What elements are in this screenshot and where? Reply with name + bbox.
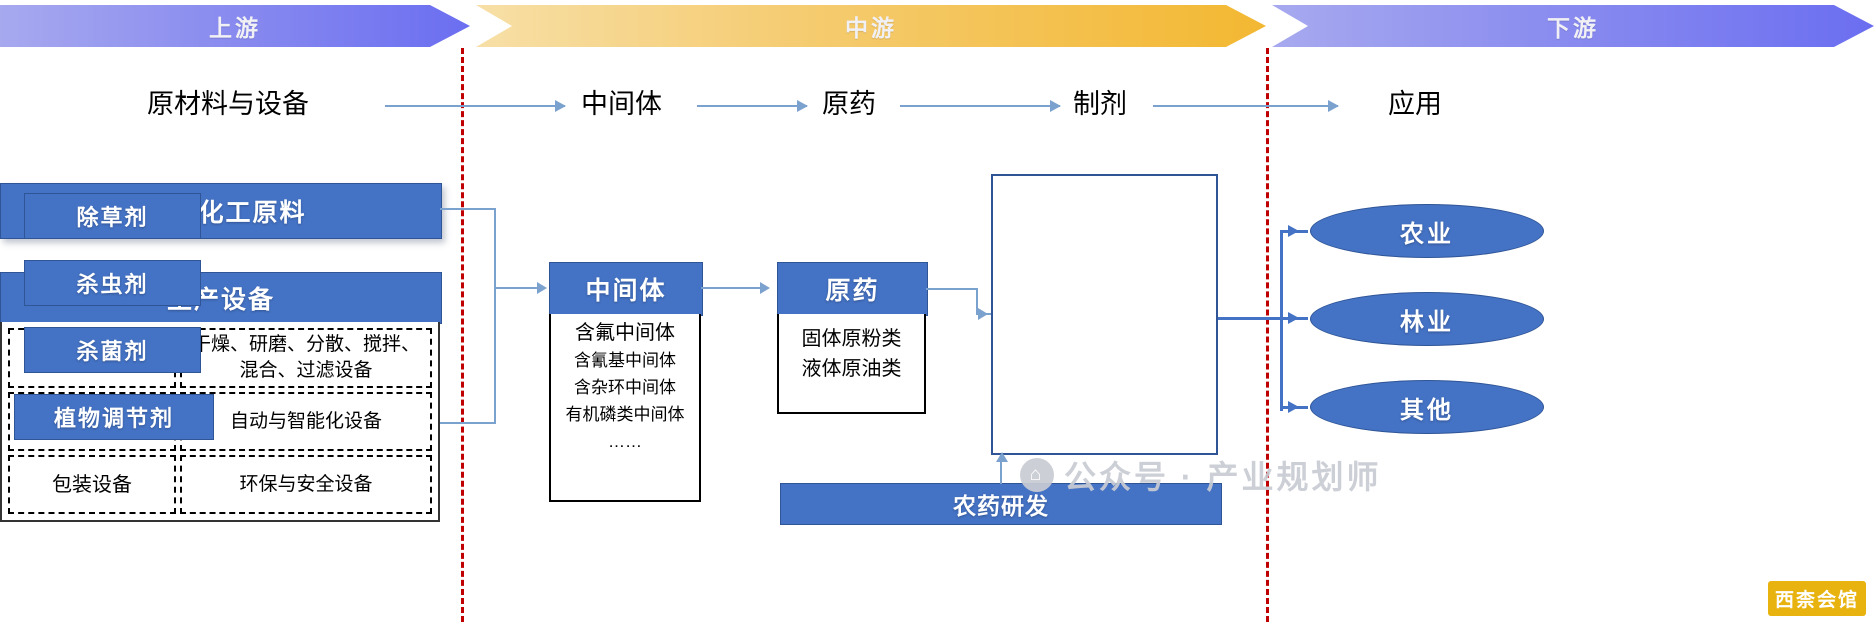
arrow-to-active-ingredient: [760, 282, 770, 294]
stage-label-active-ingredient: 原药: [822, 86, 876, 122]
formulation-chip-fungicide-label: 杀菌剂: [76, 334, 148, 366]
arrow-to-forestry: [1288, 312, 1299, 324]
connector-downstream-bus: [1280, 231, 1283, 411]
connector-rnd-to-formulation: [1000, 462, 1002, 484]
watermark-public-account-text: 公众号 · 产业规划师: [1064, 452, 1381, 498]
arrow-to-intermediate: [537, 282, 547, 294]
equipment-cell-drying-grinding[interactable]: 干燥、研磨、分散、搅拌、混合、过滤设备: [180, 328, 432, 388]
formulation-chip-fungicide[interactable]: 杀菌剂: [24, 327, 201, 373]
active-ingredient-item-list: 固体原粉类 液体原油类: [777, 314, 926, 414]
connector-ai-step-h1: [926, 288, 978, 290]
arrow-to-agriculture: [1288, 225, 1299, 237]
connector-bracket-vertical: [494, 208, 496, 424]
banner-upstream-label: 上游: [209, 9, 261, 43]
intermediate-item-cyano[interactable]: 含氰基中间体: [555, 347, 695, 374]
arrow-to-formulation: [978, 308, 988, 320]
separator-midstream-downstream: [1266, 48, 1269, 622]
stage-arrow-1: [385, 105, 565, 107]
stage-arrow-2: [697, 105, 807, 107]
arrow-to-others: [1288, 401, 1299, 413]
formulation-chip-plant-growth-regulator[interactable]: 植物调节剂: [14, 394, 214, 440]
intermediate-item-heterocycle[interactable]: 含杂环中间体: [555, 374, 695, 401]
watermark-public-account: ⌂ 公众号 · 产业规划师: [1020, 452, 1381, 498]
application-agriculture[interactable]: 农业: [1310, 204, 1544, 258]
application-agriculture-label: 农业: [1400, 214, 1454, 249]
application-others[interactable]: 其他: [1310, 380, 1544, 434]
formulation-group-box: [991, 174, 1218, 455]
separator-upstream-midstream: [461, 48, 464, 622]
stage-label-raw-materials: 原材料与设备: [147, 86, 309, 122]
formulation-chip-insecticide[interactable]: 杀虫剂: [24, 260, 201, 306]
box-active-ingredient-label: 原药: [825, 271, 879, 307]
intermediate-item-organophosphorus[interactable]: 有机磷类中间体: [555, 401, 695, 428]
connector-formulation-to-downstream: [1218, 317, 1282, 320]
box-intermediate-header[interactable]: 中间体: [549, 262, 703, 316]
intermediate-item-ellipsis: ……: [555, 428, 695, 455]
formulation-chip-plant-growth-regulator-label: 植物调节剂: [54, 401, 174, 433]
formulation-chip-herbicide-label: 除草剂: [76, 200, 148, 232]
connector-equipment-to-bracket: [440, 422, 496, 424]
arrow-rnd-up: [996, 452, 1008, 462]
stage-arrow-3: [900, 105, 1060, 107]
application-forestry-label: 林业: [1400, 302, 1454, 337]
connector-bracket-to-intermediate: [494, 287, 539, 289]
banner-upstream: 上游: [0, 5, 470, 47]
connector-intermediate-to-ai: [701, 287, 761, 289]
stage-label-formulation: 制剂: [1073, 86, 1127, 122]
connector-petro-to-bracket: [440, 208, 496, 210]
equipment-cell-environmental-safety[interactable]: 环保与安全设备: [180, 455, 432, 514]
equipment-cell-automation[interactable]: 自动与智能化设备: [180, 392, 432, 451]
application-forestry[interactable]: 林业: [1310, 292, 1544, 346]
stage-label-application: 应用: [1388, 86, 1442, 122]
intermediate-item-fluorine[interactable]: 含氟中间体: [555, 320, 695, 347]
banner-downstream: 下游: [1272, 5, 1874, 47]
wechat-logo-icon: ⌂: [1020, 458, 1054, 492]
banner-midstream-label: 中游: [845, 9, 897, 43]
equipment-cell-packaging[interactable]: 包装设备: [8, 455, 176, 514]
active-ingredient-item-solid-powder[interactable]: 固体原粉类: [783, 324, 920, 354]
intermediate-item-list: 含氟中间体 含氰基中间体 含杂环中间体 有机磷类中间体 ……: [549, 314, 701, 502]
active-ingredient-item-liquid-oil[interactable]: 液体原油类: [783, 354, 920, 384]
box-active-ingredient-header[interactable]: 原药: [777, 262, 928, 316]
watermark-brand-badge: 西柰会馆: [1768, 581, 1866, 616]
banner-midstream: 中游: [476, 5, 1266, 47]
banner-downstream-label: 下游: [1547, 9, 1599, 43]
stage-arrow-4: [1153, 105, 1338, 107]
formulation-chip-herbicide[interactable]: 除草剂: [24, 193, 201, 239]
box-intermediate-label: 中间体: [585, 271, 666, 307]
stage-label-intermediate: 中间体: [581, 86, 662, 122]
formulation-chip-insecticide-label: 杀虫剂: [76, 267, 148, 299]
application-others-label: 其他: [1400, 390, 1454, 425]
